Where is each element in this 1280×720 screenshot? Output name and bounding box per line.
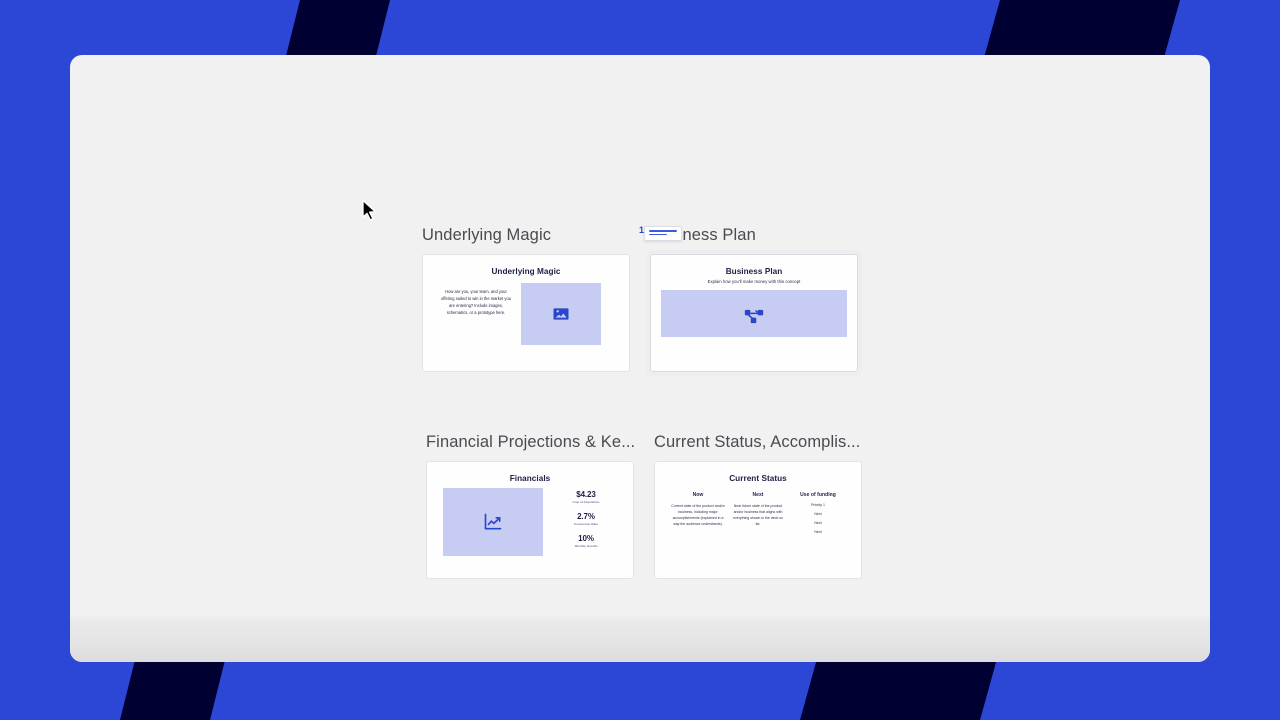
stat-value: 2.7% xyxy=(553,512,619,521)
card-heading: Current Status xyxy=(665,474,851,483)
drag-preview-card xyxy=(644,226,682,241)
card-body: $4.23 Cost of Acquisition 2.7% Conversio… xyxy=(437,486,623,556)
media-placeholder[interactable] xyxy=(443,488,543,556)
column-body: Current state of the product and/or busi… xyxy=(671,503,725,528)
stat-label: Cost of Acquisition xyxy=(553,500,619,504)
card-body: How are you, your team, and your offerin… xyxy=(433,279,619,345)
list-item: Priority 1 xyxy=(791,503,845,507)
slide-cell-business-plan[interactable]: Business Plan Business Plan Explain how … xyxy=(650,225,858,372)
line-chart-icon xyxy=(483,512,503,532)
slide-card-business-plan[interactable]: Business Plan Explain how you'll make mo… xyxy=(650,254,858,372)
card-heading: Business Plan xyxy=(661,267,847,276)
list-item: Next xyxy=(791,512,845,516)
slide-title-underlying-magic: Underlying Magic xyxy=(422,225,630,246)
stat-value: 10% xyxy=(553,534,619,543)
slide-card-current-status[interactable]: Current Status Now Current state of the … xyxy=(654,461,862,579)
stat-label: Monthly Growth xyxy=(553,544,619,548)
status-column-next: Next Near future state of the product an… xyxy=(731,492,785,539)
stat-value: $4.23 xyxy=(553,490,619,499)
slide-title-current-status: Current Status, Accomplis... xyxy=(654,432,866,453)
card-heading: Financials xyxy=(437,474,623,483)
arrow-pointer-icon xyxy=(361,199,379,223)
slide-cell-financial-projections[interactable]: Financial Projections & Ke... Financials xyxy=(426,432,634,579)
status-column-now: Now Current state of the product and/or … xyxy=(671,492,725,539)
column-heading: Use of funding xyxy=(791,492,845,498)
slide-cell-current-status[interactable]: Current Status, Accomplis... Current Sta… xyxy=(654,432,862,579)
stat-label: Conversion Rate xyxy=(553,522,619,526)
card-subtitle: Explain how you'll make money with this … xyxy=(661,279,847,284)
stat-item: 2.7% Conversion Rate xyxy=(553,512,619,526)
image-icon xyxy=(552,305,570,323)
card-heading: Underlying Magic xyxy=(433,267,619,276)
stat-item: $4.23 Cost of Acquisition xyxy=(553,490,619,504)
media-placeholder[interactable] xyxy=(521,283,601,345)
stat-item: 10% Monthly Growth xyxy=(553,534,619,548)
media-placeholder[interactable] xyxy=(661,290,847,337)
list-item: Next xyxy=(791,521,845,525)
card-body: Now Current state of the product and/or … xyxy=(665,486,851,539)
list-item: Next xyxy=(791,530,845,534)
status-column-use-of-funding: Use of funding Priority 1 Next Next Next xyxy=(791,492,845,539)
column-body: Near future state of the product and/or … xyxy=(731,503,785,528)
app-window-panel: Underlying Magic Underlying Magic How ar… xyxy=(70,55,1210,662)
financial-stats: $4.23 Cost of Acquisition 2.7% Conversio… xyxy=(553,488,619,548)
column-heading: Next xyxy=(731,492,785,498)
slide-card-financial-projections[interactable]: Financials $4.23 Cost xyxy=(426,461,634,579)
slide-title-financial-projections: Financial Projections & Ke... xyxy=(426,432,638,453)
drag-preview-line xyxy=(649,230,677,232)
column-heading: Now xyxy=(671,492,725,498)
hierarchy-diagram-icon xyxy=(743,303,765,325)
drag-preview-line xyxy=(649,234,667,236)
slide-card-underlying-magic[interactable]: Underlying Magic How are you, your team,… xyxy=(422,254,630,372)
slide-grid-row: Underlying Magic Underlying Magic How ar… xyxy=(422,225,892,372)
slide-cell-underlying-magic[interactable]: Underlying Magic Underlying Magic How ar… xyxy=(422,225,630,372)
slide-grid-row: Financial Projections & Ke... Financials xyxy=(422,432,892,579)
panel-bottom-sheen xyxy=(70,614,1210,624)
drag-count-badge: 1 xyxy=(639,226,644,235)
panel-bottom-bar xyxy=(70,624,1210,662)
slide-grid: Underlying Magic Underlying Magic How ar… xyxy=(422,225,892,579)
card-body-text: How are you, your team, and your offerin… xyxy=(439,283,513,317)
